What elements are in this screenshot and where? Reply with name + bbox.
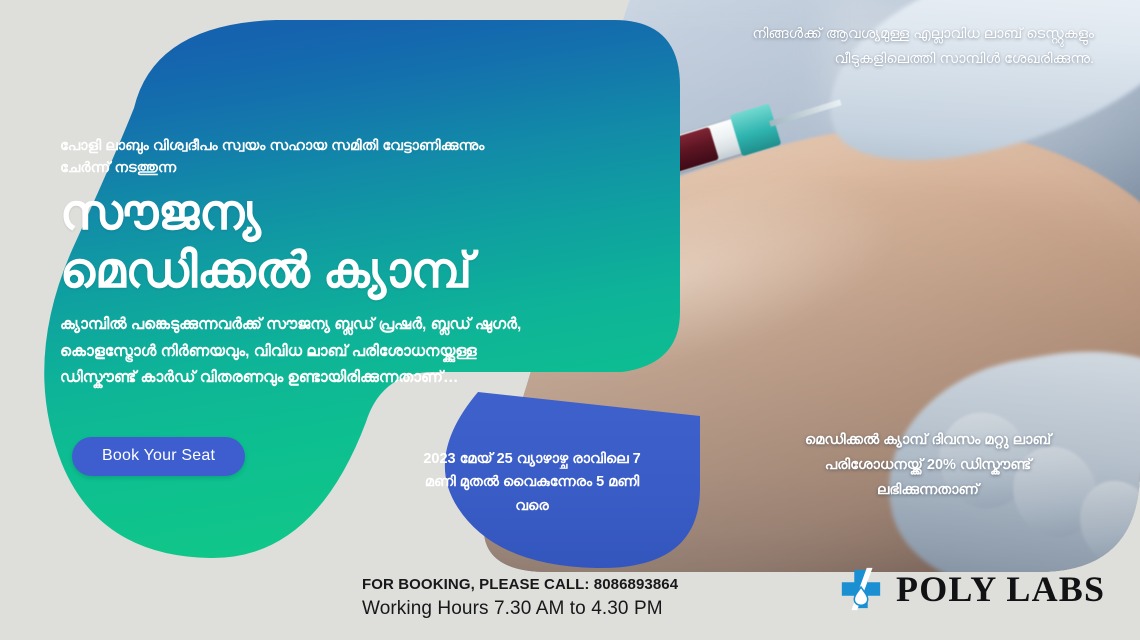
date-time-text: 2023 മേയ് 25 വ്യാഴാഴ്ച രാവിലെ 7 മണി മുതൽ… bbox=[412, 448, 652, 518]
camp-details-paragraph: ക്യാമ്പിൽ പങ്കെടുക്കുന്നവർക്ക് സൗജന്യ ബ്… bbox=[60, 312, 530, 392]
page-title: സൗജന്യ മെഡിക്കൽ ക്യാമ്പ് bbox=[60, 185, 580, 301]
headline-line-1: സൗജന്യ bbox=[60, 186, 261, 240]
brand-logo: POLY LABS bbox=[838, 566, 1105, 612]
book-your-seat-button[interactable]: Book Your Seat bbox=[72, 437, 245, 476]
organizer-kicker: പോളി ലാബും വിശ്വദീപം സ്വയം സഹായ സമിതി വേ… bbox=[60, 135, 490, 180]
booking-call-text: FOR BOOKING, PLEASE CALL: 8086893864 bbox=[362, 576, 678, 593]
medical-cross-droplet-icon bbox=[838, 566, 884, 612]
discount-note: മെഡിക്കൽ ക്യാമ്പ് ദിവസം മറ്റു ലാബ് പരിശോ… bbox=[778, 428, 1078, 503]
headline-line-2: മെഡിക്കൽ ക്യാമ്പ് bbox=[60, 243, 580, 301]
poster-canvas: നിങ്ങൾക്ക് ആവശ്യമുള്ള എല്ലാവിധ ലാബ് ടെസ്… bbox=[0, 0, 1140, 640]
working-hours-text: Working Hours 7.30 AM to 4.30 PM bbox=[362, 598, 663, 620]
brand-name: POLY LABS bbox=[896, 571, 1105, 607]
home-sample-collection-note: നിങ്ങൾക്ക് ആവശ്യമുള്ള എല്ലാവിധ ലാബ് ടെസ്… bbox=[714, 22, 1094, 72]
